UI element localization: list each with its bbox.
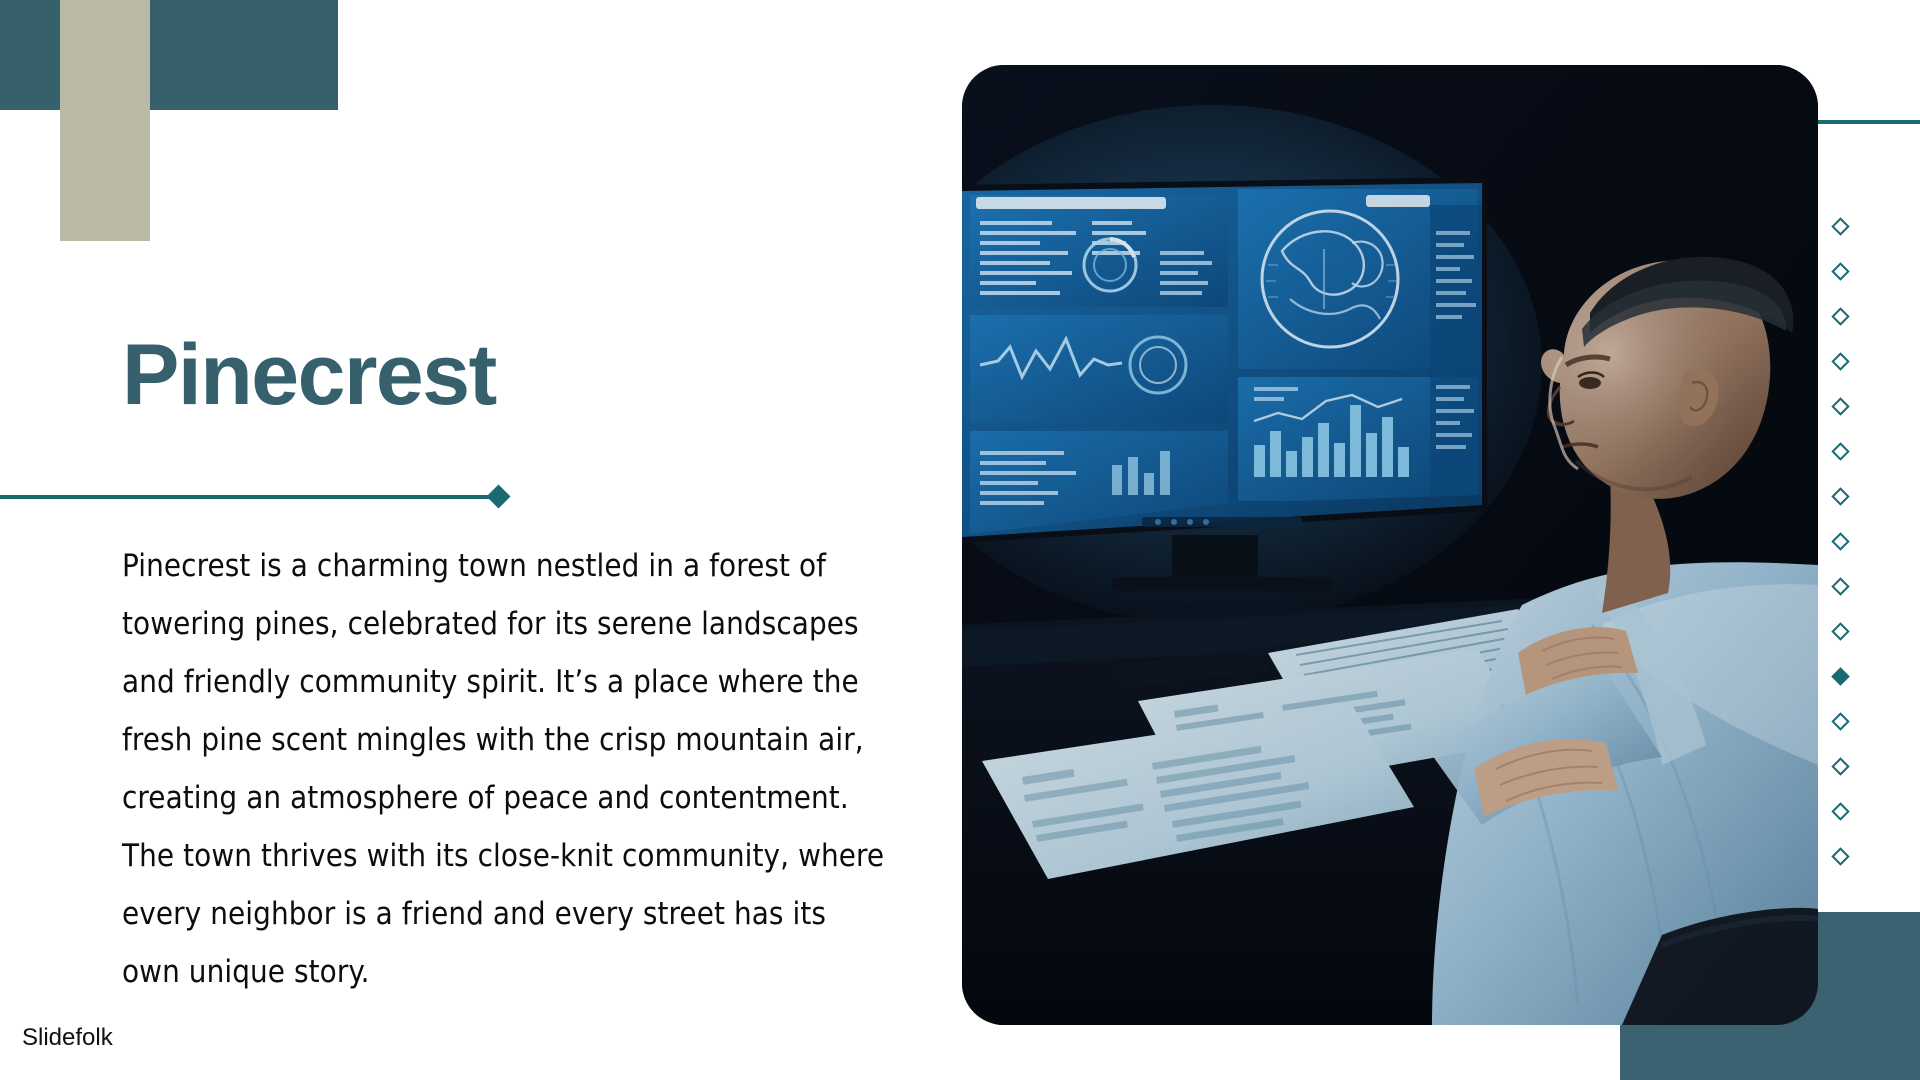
rail-diamond-active-icon[interactable]: [1831, 667, 1849, 685]
rail-diamond-icon[interactable]: [1831, 622, 1849, 640]
rail-diamond-icon[interactable]: [1831, 577, 1849, 595]
rail-diamond-icon[interactable]: [1831, 307, 1849, 325]
page-title: Pinecrest: [122, 330, 882, 420]
rail-accent-line: [1813, 120, 1920, 124]
divider-line: [0, 495, 495, 499]
rail-diamond-icon[interactable]: [1831, 487, 1849, 505]
rail-diamond-icon[interactable]: [1831, 757, 1849, 775]
rail-diamond-icon[interactable]: [1831, 217, 1849, 235]
rail-diamond-icon[interactable]: [1831, 262, 1849, 280]
text-column: Pinecrest: [122, 330, 882, 420]
decor-teal-rectangle: [0, 0, 338, 110]
title-divider: [0, 485, 510, 509]
rail-diamond-icon[interactable]: [1831, 397, 1849, 415]
footer-brand: Slidefolk: [22, 1024, 113, 1052]
rail-diamond-column: [1825, 220, 1855, 895]
hero-photo: [962, 65, 1818, 1025]
rail-diamond-icon[interactable]: [1831, 847, 1849, 865]
slide-root: Pinecrest Pinecrest is a charming town n…: [0, 0, 1920, 1080]
rail-diamond-icon[interactable]: [1831, 352, 1849, 370]
hero-photo-illustration: [962, 65, 1818, 1025]
rail-diamond-icon[interactable]: [1831, 802, 1849, 820]
divider-diamond-icon: [486, 484, 510, 508]
rail-diamond-icon[interactable]: [1831, 442, 1849, 460]
rail-diamond-icon[interactable]: [1831, 532, 1849, 550]
rail-diamond-icon[interactable]: [1831, 712, 1849, 730]
body-paragraph: Pinecrest is a charming town nestled in …: [122, 537, 892, 1001]
decor-beige-bar: [60, 0, 150, 241]
